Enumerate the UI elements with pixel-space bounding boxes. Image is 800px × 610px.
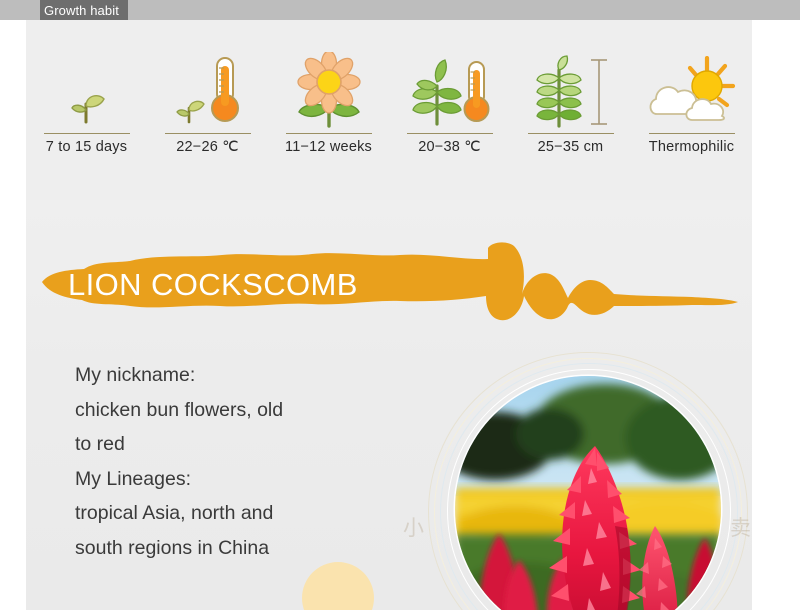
sprout-thermometer-icon [169,52,247,130]
growth-habit-item-height: 25−35 cm [510,40,631,155]
icon-rule [165,133,251,134]
growth-habit-item-bloom-time: 11−12 weeks [268,40,389,155]
growth-habit-label: Thermophilic [649,139,734,155]
description-line: south regions in China [75,531,415,566]
plant-height-icon [527,52,615,130]
growth-habit-item-growing-temp: 20−38 ℃ [389,40,510,155]
description-line: tropical Asia, north and [75,496,415,531]
icon-rule [407,133,493,134]
description-line: My nickname: [75,358,415,393]
watermark-left: 小 [403,512,424,542]
growth-habit-row: 7 to 15 days [26,40,752,155]
page-title: LION COCKSCOMB [68,267,358,303]
growth-habit-label: 25−35 cm [538,139,604,155]
sun-cloud-icon [647,52,737,130]
growth-habit-item-germination: 7 to 15 days [26,40,147,155]
title-banner: LION COCKSCOMB [40,236,740,341]
flower-icon [291,52,367,130]
growth-habit-label: 7 to 15 days [46,139,127,155]
growth-habit-label: 11−12 weeks [285,139,372,155]
icon-rule [649,133,735,134]
header-tab-label: Growth habit [44,1,119,20]
growth-habit-label: 22−26 ℃ [176,139,238,155]
description-block: My nickname: chicken bun flowers, old to… [75,358,415,565]
growth-habit-item-climate: Thermophilic [631,40,752,155]
watermark-right: 卖 [730,512,751,542]
description-line: My Lineages: [75,462,415,497]
photo-medallion [428,352,748,610]
sprout-icon [52,52,122,130]
plant-thermometer-icon [407,52,493,130]
page-root: Growth habit 7 to 15 days [0,0,800,610]
description-line: to red [75,427,415,462]
icon-rule [286,133,372,134]
growth-habit-label: 20−38 ℃ [418,139,480,155]
description-line: chicken bun flowers, old [75,393,415,428]
growth-habit-item-germination-temp: 22−26 ℃ [147,40,268,155]
icon-rule [44,133,130,134]
icon-rule [528,133,614,134]
